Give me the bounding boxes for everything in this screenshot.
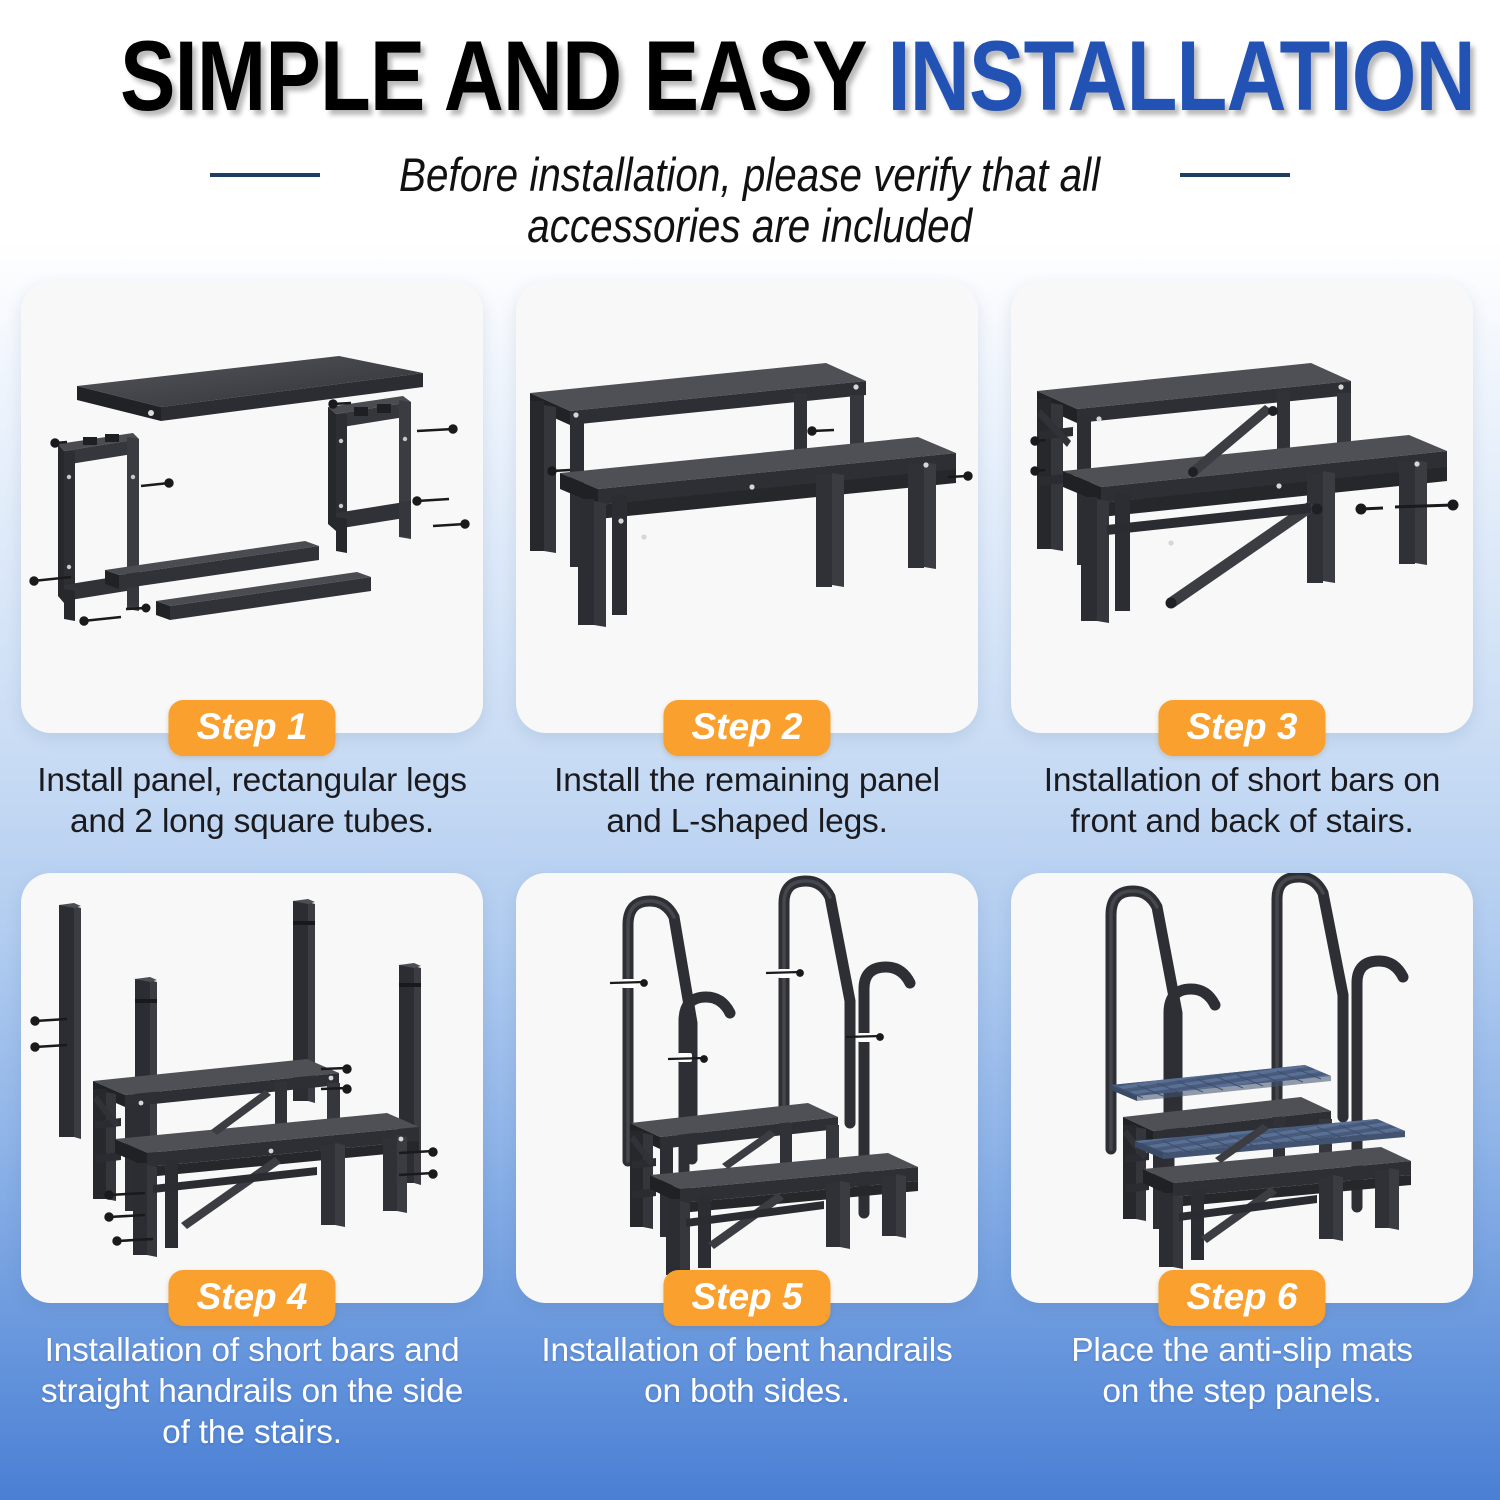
step-badge-1: Step 1 [168,700,335,756]
steps-grid: Step 1 Install panel, rectangular legs a… [21,281,1479,1463]
step-image-card-6 [1011,873,1473,1303]
step-caption-3: Installation of short bars on front and … [1011,761,1473,843]
step-image-card-5 [516,873,978,1303]
illustration-stairs-with-straight-posts [21,873,483,1303]
subtitle-line-2: accessories are included [528,200,973,253]
step-card-1: Step 1 Install panel, rectangular legs a… [21,281,483,873]
step-image-card-3 [1011,281,1473,733]
step-card-5: Step 5 Installation of bent handrails on… [516,873,978,1463]
step-badge-5: Step 5 [663,1270,830,1326]
step-badge-2: Step 2 [663,700,830,756]
step-card-3: Step 3 Installation of short bars on fro… [1011,281,1473,873]
step-caption-6: Place the anti-slip mats on the step pan… [1011,1331,1473,1413]
page-header: SIMPLE AND EASY INSTALLATION Before inst… [0,0,1500,252]
step-card-2: Step 2 Install the remaining panel and L… [516,281,978,873]
step-badge-3: Step 3 [1158,700,1325,756]
subtitle-dash-right [1180,173,1290,177]
illustration-stairs-with-antislip-mats [1011,873,1473,1303]
page-title-part1: SIMPLE AND EASY [120,20,887,131]
page-title: SIMPLE AND EASY INSTALLATION [120,26,1380,127]
illustration-exploded-panel-legs-tubes [21,281,483,733]
page-title-part2: INSTALLATION [887,20,1474,131]
step-card-4: Step 4 Installation of short bars and st… [21,873,483,1463]
step-badge-6: Step 6 [1158,1270,1325,1326]
page-subtitle: Before installation, please verify that … [0,149,1500,252]
step-badge-4: Step 4 [168,1270,335,1326]
step-image-card-2 [516,281,978,733]
step-caption-4: Installation of short bars and straight … [21,1331,483,1454]
step-caption-1: Install panel, rectangular legs and 2 lo… [21,761,483,843]
illustration-stairs-with-bent-handrails [516,873,978,1303]
step-image-card-1 [21,281,483,733]
subtitle-dash-left [210,173,320,177]
step-card-6: Step 6 Place the anti-slip mats on the s… [1011,873,1473,1463]
step-image-card-4 [21,873,483,1303]
subtitle-line-1: Before installation, please verify that … [399,149,1100,202]
illustration-stairs-with-diagonal-bars [1011,281,1473,733]
step-caption-5: Installation of bent handrails on both s… [516,1331,978,1413]
illustration-two-tier-step-assembly [516,281,978,733]
step-caption-2: Install the remaining panel and L-shaped… [516,761,978,843]
